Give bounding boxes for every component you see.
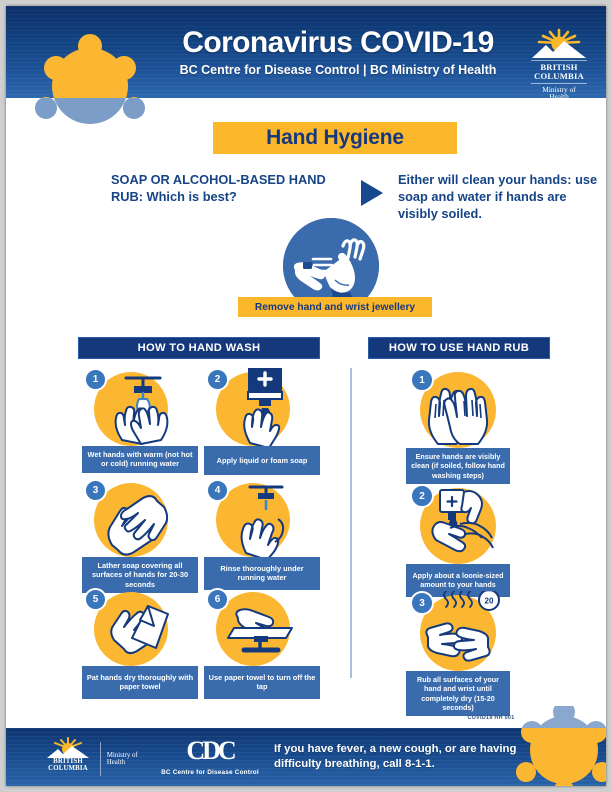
section-heading-hand-wash-label: HOW TO HAND WASH (138, 342, 261, 354)
section-heading-hand-rub-label: HOW TO USE HAND RUB (389, 342, 529, 354)
bc-logo-footer-dept2: Health (107, 759, 142, 766)
bc-logo-dept-line2: Health (526, 93, 592, 101)
rub-step-1-caption: Ensure hands are visibly clean (if soile… (406, 448, 510, 484)
wash-step-5-caption: Pat hands dry thoroughly with paper towe… (82, 666, 198, 699)
bccdc-name: BC Centre for Disease Control (146, 769, 274, 776)
bc-logo-divider-2 (531, 83, 588, 84)
bc-logo-footer-divider (100, 742, 101, 776)
page-title: Coronavirus COVID-19 (158, 28, 518, 58)
wash-step-2-number: 2 (206, 368, 229, 391)
rub-step-3: 20 Rub all surfaces of your hand and wri… (406, 591, 510, 716)
svg-text:20: 20 (485, 597, 494, 606)
wash-step-6-number: 6 (206, 588, 229, 611)
column-divider (350, 368, 352, 678)
wash-step-1-caption: Wet hands with warm (not hot or cold) ru… (82, 446, 198, 473)
bccdc-logo: CDC BC Centre for Disease Control (146, 738, 274, 776)
footer-health-message: If you have fever, a new cough, or are h… (274, 742, 524, 772)
coronavirus-icon-footer (512, 706, 606, 786)
jewellery-note-label: Remove hand and wrist jewellery (255, 302, 415, 313)
section-heading-hand-rub: HOW TO USE HAND RUB (368, 337, 550, 359)
coronavirus-icon-header (34, 24, 146, 136)
bc-sun-mountain-icon-footer (42, 736, 94, 758)
wash-step-5-number: 5 (84, 588, 107, 611)
wash-step-6-caption: Use paper towel to turn off the tap (204, 666, 320, 699)
rub-step-3-number: 3 (410, 591, 434, 615)
wash-step-6: Use paper towel to turn off the tap 6 (204, 588, 320, 699)
bccdc-mark: CDC (146, 738, 274, 764)
wash-step-5: Pat hands dry thoroughly with paper towe… (82, 588, 198, 699)
bc-sun-mountain-icon (526, 28, 592, 58)
play-triangle-icon (361, 180, 383, 206)
wash-step-1-number: 1 (84, 368, 107, 391)
hand-hygiene-banner: Hand Hygiene (213, 122, 457, 154)
rub-step-2-number: 2 (410, 484, 434, 508)
page-subtitle: BC Centre for Disease Control | BC Minis… (158, 64, 518, 77)
wash-step-4-number: 4 (206, 479, 229, 502)
wash-step-3-number: 3 (84, 479, 107, 502)
rub-step-1-number: 1 (410, 368, 434, 392)
wash-step-1: Wet hands with warm (not hot or cold) ru… (82, 368, 198, 473)
bc-logo-province: BRITISH COLUMBIA (526, 63, 592, 81)
rub-step-1: Ensure hands are visibly clean (if soile… (406, 368, 510, 484)
section-heading-hand-wash: HOW TO HAND WASH (78, 337, 320, 359)
intro-answer: Either will clean your hands: use soap a… (398, 172, 598, 223)
rub-step-3-caption: Rub all surfaces of your hand and wrist … (406, 671, 510, 716)
bc-logo-divider (531, 60, 588, 61)
jewellery-note-banner: Remove hand and wrist jewellery (238, 297, 432, 317)
bc-logo-footer-dept1: Ministry of (107, 752, 142, 759)
wash-step-4: Rinse thoroughly under running water 4 (204, 479, 320, 590)
wash-step-4-caption: Rinse thoroughly under running water (204, 557, 320, 590)
bc-logo-footer-province: BRITISH COLUMBIA (42, 759, 94, 773)
wash-step-2: Apply liquid or foam soap 2 (204, 368, 320, 475)
wash-step-2-caption: Apply liquid or foam soap (204, 446, 320, 475)
wash-step-3: Lather soap covering all surfaces of han… (82, 479, 198, 593)
poster: Coronavirus COVID-19 BC Centre for Disea… (6, 6, 606, 786)
bc-logo-header: BRITISH COLUMBIA Ministry of Health (526, 28, 592, 101)
rub-step-2: Apply about a loonie-sized amount to you… (406, 484, 510, 597)
bc-logo-footer: BRITISH COLUMBIA Ministry of Health (42, 736, 142, 776)
hand-hygiene-banner-label: Hand Hygiene (266, 126, 404, 150)
intro-question: SOAP OR ALCOHOL-BASED HAND RUB: Which is… (111, 172, 351, 206)
